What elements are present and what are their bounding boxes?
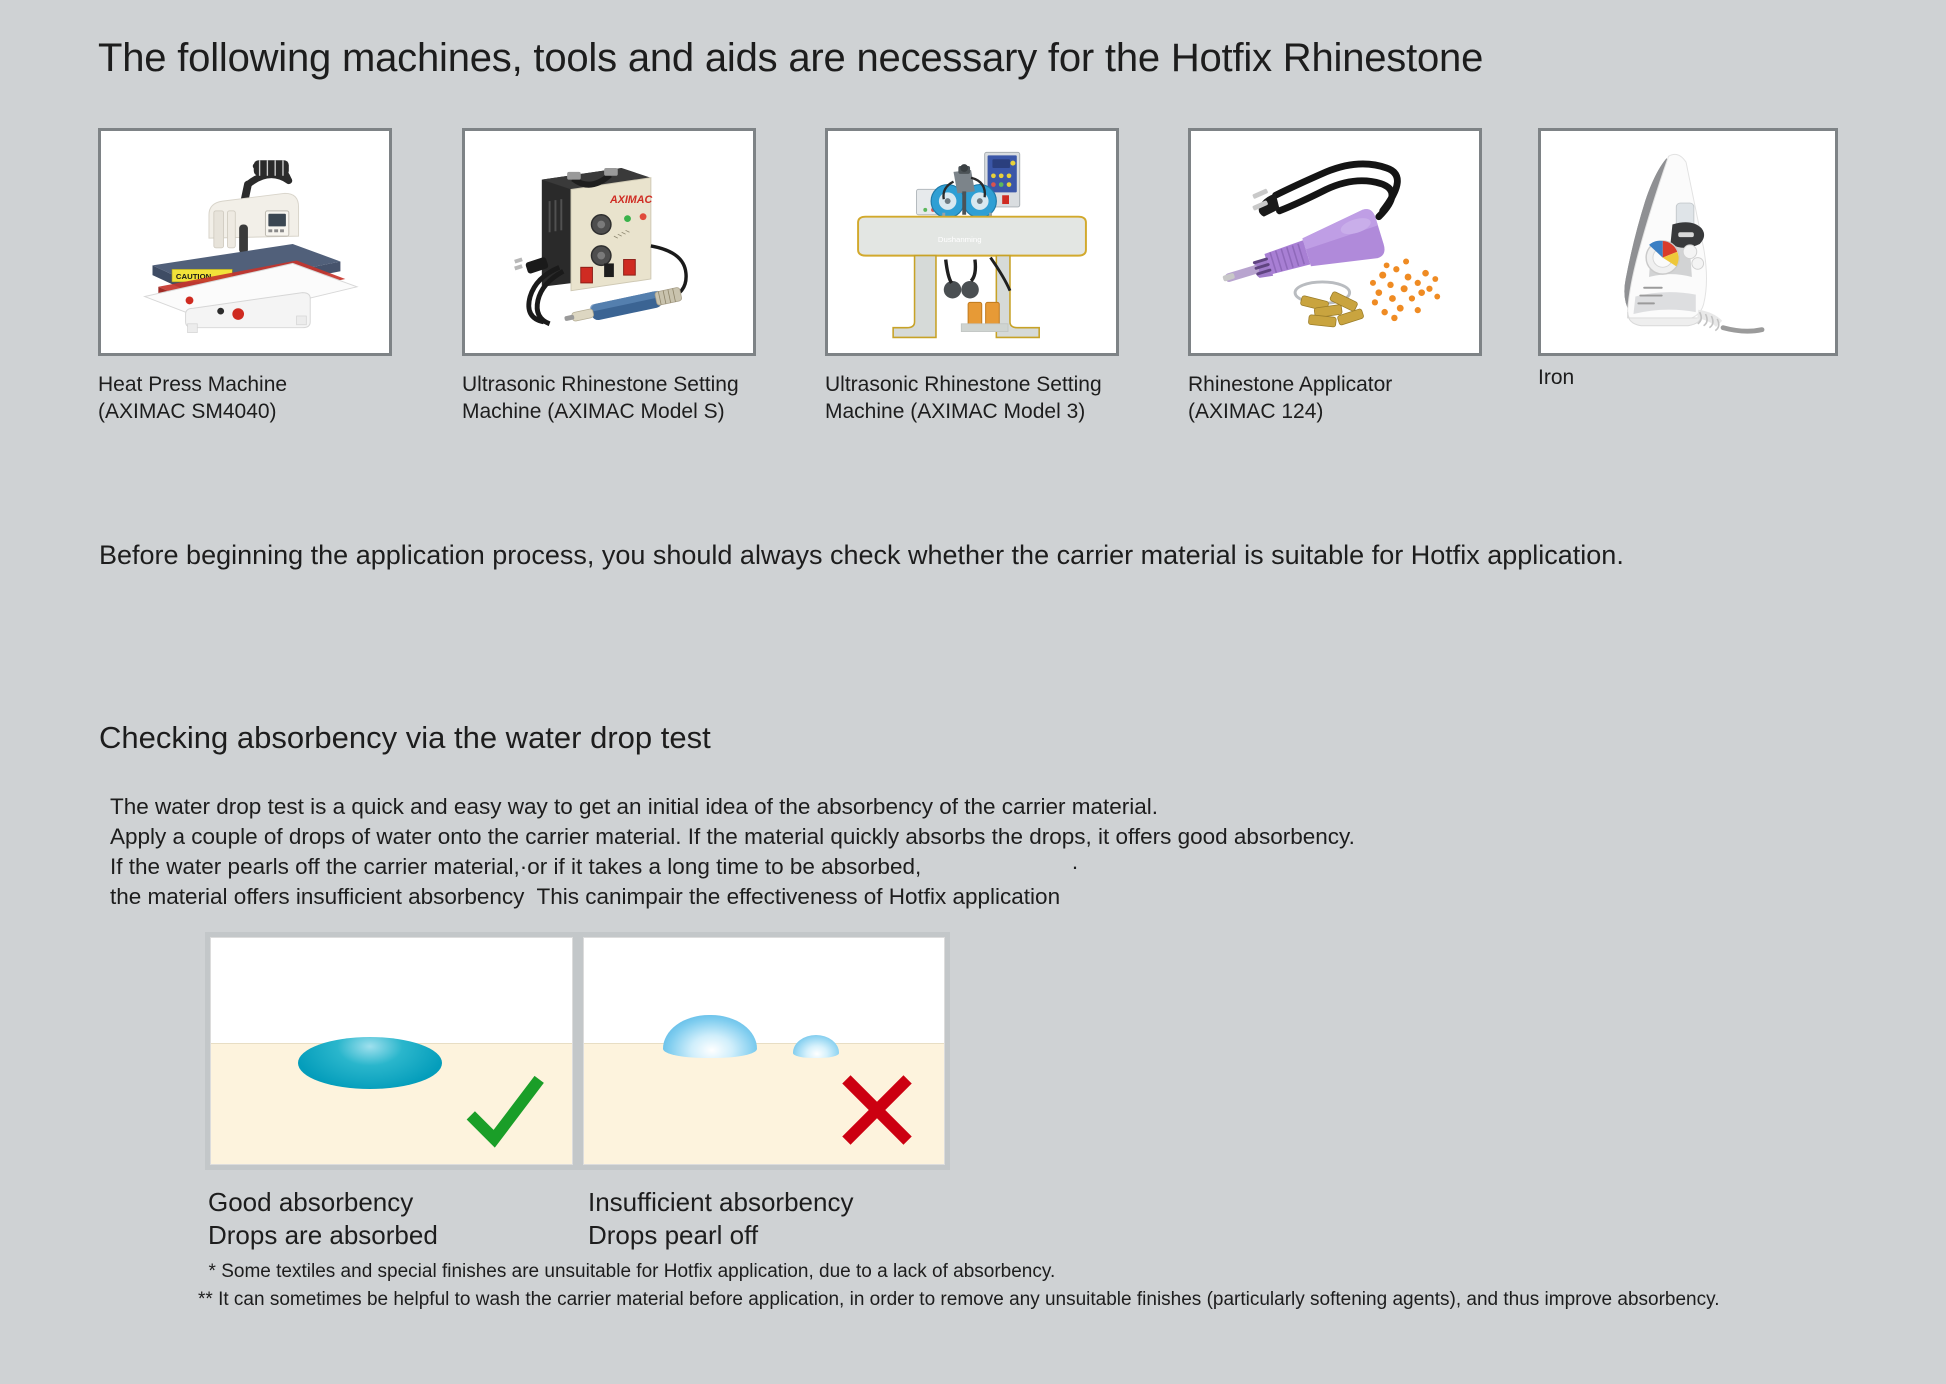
absorbed-water-drop-icon xyxy=(298,1037,442,1089)
section-body: The water drop test is a quick and easy … xyxy=(110,792,1355,912)
page-title: The following machines, tools and aids a… xyxy=(98,36,1483,81)
footnotes: * Some textiles and special finishes are… xyxy=(198,1258,1720,1314)
svg-text:Dushanming: Dushanming xyxy=(938,235,982,244)
ultrasonic-setting-machine-model-3-icon: Dushanming xyxy=(828,131,1116,353)
check-mark-icon xyxy=(460,1065,550,1155)
footnote-1: * Some textiles and special finishes are… xyxy=(198,1258,1720,1286)
product-card-heat-press: CAUTION Heat Press Machine (AXIMAC SM404… xyxy=(98,128,392,425)
product-card-iron: Iron xyxy=(1538,128,1838,391)
product-caption: Rhinestone Applicator (AXIMAC 124) xyxy=(1188,371,1482,425)
ultrasonic-setting-machine-model-s-icon: AXIMAC xyxy=(465,131,753,353)
iron-icon xyxy=(1541,131,1835,353)
body-line-2: Apply a couple of drops of water onto th… xyxy=(110,822,1355,852)
product-image-frame: Dushanming xyxy=(825,128,1119,356)
intro-paragraph: Before beginning the application process… xyxy=(99,540,1624,571)
label-good-absorbency: Good absorbency Drops are absorbed xyxy=(208,1186,438,1252)
footnote-2: ** It can sometimes be helpful to wash t… xyxy=(198,1286,1720,1314)
pearled-water-drop-large-icon xyxy=(663,1015,757,1058)
product-gallery: CAUTION Heat Press Machine (AXIMAC SM404… xyxy=(0,128,1946,428)
product-image-frame: AXIMAC xyxy=(462,128,756,356)
product-card-ultrasonic-model-s: AXIMAC xyxy=(462,128,756,425)
good-absorbency-panel xyxy=(210,937,573,1165)
product-card-rhinestone-applicator: Rhinestone Applicator (AXIMAC 124) xyxy=(1188,128,1482,425)
heat-press-machine-icon: CAUTION xyxy=(101,131,389,353)
body-line-1: The water drop test is a quick and easy … xyxy=(110,792,1355,822)
rhinestone-applicator-icon xyxy=(1191,131,1479,353)
cross-mark-icon xyxy=(832,1065,922,1155)
pearled-water-drop-small-icon xyxy=(793,1035,840,1058)
svg-text:AXIMAC: AXIMAC xyxy=(609,194,652,206)
product-image-frame: CAUTION xyxy=(98,128,392,356)
product-image-frame xyxy=(1188,128,1482,356)
product-caption: Iron xyxy=(1538,364,1838,391)
product-image-frame xyxy=(1538,128,1838,356)
product-card-ultrasonic-model-3: Dushanming Ultrasonic Rhinestone Setting… xyxy=(825,128,1119,425)
body-line-4: the material offers insufficient absorbe… xyxy=(110,882,1355,912)
insufficient-absorbency-panel xyxy=(583,937,946,1165)
product-caption: Heat Press Machine (AXIMAC SM4040) xyxy=(98,371,392,425)
section-heading: Checking absorbency via the water drop t… xyxy=(99,720,711,756)
water-drop-test-figure xyxy=(205,932,950,1170)
product-caption: Ultrasonic Rhinestone Setting Machine (A… xyxy=(462,371,756,425)
product-caption: Ultrasonic Rhinestone Setting Machine (A… xyxy=(825,371,1119,425)
body-line-3: If the water pearls off the carrier mate… xyxy=(110,852,1355,882)
label-insufficient-absorbency: Insufficient absorbency Drops pearl off xyxy=(588,1186,853,1252)
